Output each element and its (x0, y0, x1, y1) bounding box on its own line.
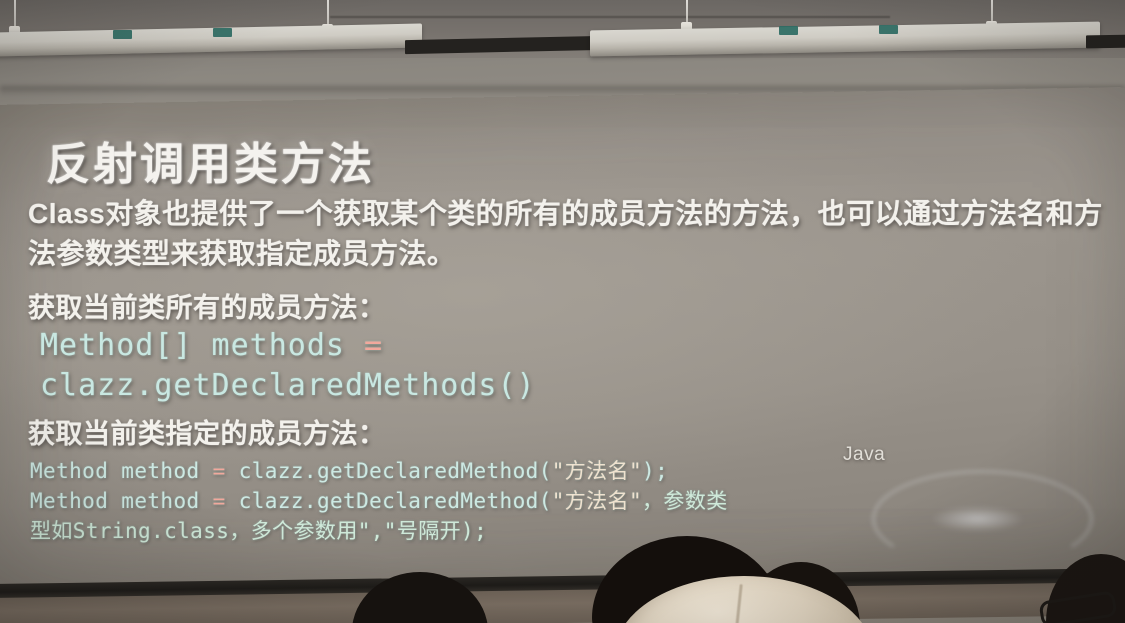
code-snippet-get-declared-methods: Method[] methods = clazz.getDeclaredMeth… (40, 326, 536, 406)
code-line: Method method = clazz.getDeclaredMethod(… (30, 456, 728, 486)
screen-glare-highlight (930, 506, 1025, 532)
fixture-accent-tab (779, 26, 798, 35)
language-badge: Java (843, 444, 885, 466)
code-line: 型如String.class，多个参数用","号隔开); (30, 516, 728, 546)
code-token-call: clazz.getDeclaredMethod( (226, 489, 552, 513)
code-token-string: "方法名" (552, 489, 642, 513)
slide-subheading-specific-method: 获取当前类指定的成员方法： (28, 412, 386, 451)
code-token-operator: = (364, 328, 383, 363)
ceiling-light-gap (1086, 35, 1125, 49)
code-line: Method method = clazz.getDeclaredMethod(… (30, 486, 728, 516)
fixture-accent-tab (113, 30, 132, 39)
code-line: clazz.getDeclaredMethods() (40, 366, 536, 406)
lecture-photo-scene: 反射调用类方法 Class对象也提供了一个获取某个类的所有的成员方法的方法，也可… (0, 0, 1125, 623)
code-snippet-get-declared-method: Method method = clazz.getDeclaredMethod(… (30, 456, 728, 546)
code-token-decl: Method method (30, 459, 213, 483)
fixture-accent-tab (213, 28, 232, 37)
fixture-accent-tab (879, 25, 898, 34)
slide-subheading-all-methods: 获取当前类所有的成员方法： (28, 286, 386, 325)
code-token-operator: = (213, 459, 226, 483)
code-token-comment: ，参数类 (642, 489, 728, 513)
code-token-decl: Method[] methods (40, 328, 364, 363)
code-token-decl: Method method (30, 489, 213, 513)
code-token-call: clazz.getDeclaredMethod( (226, 459, 552, 483)
ceiling-rail (330, 16, 890, 18)
code-line: Method[] methods = (40, 326, 536, 366)
code-token-operator: = (213, 489, 226, 513)
code-token-comment: 型如String.class，多个参数用","号隔开); (30, 519, 487, 543)
code-token-string: "方法名" (552, 459, 642, 483)
code-token-tail: ); (642, 459, 668, 483)
slide-title: 反射调用类方法 (46, 128, 375, 192)
slide-paragraph: Class对象也提供了一个获取某个类的所有的成员方法的方法，也可以通过方法名和方… (28, 194, 1114, 274)
